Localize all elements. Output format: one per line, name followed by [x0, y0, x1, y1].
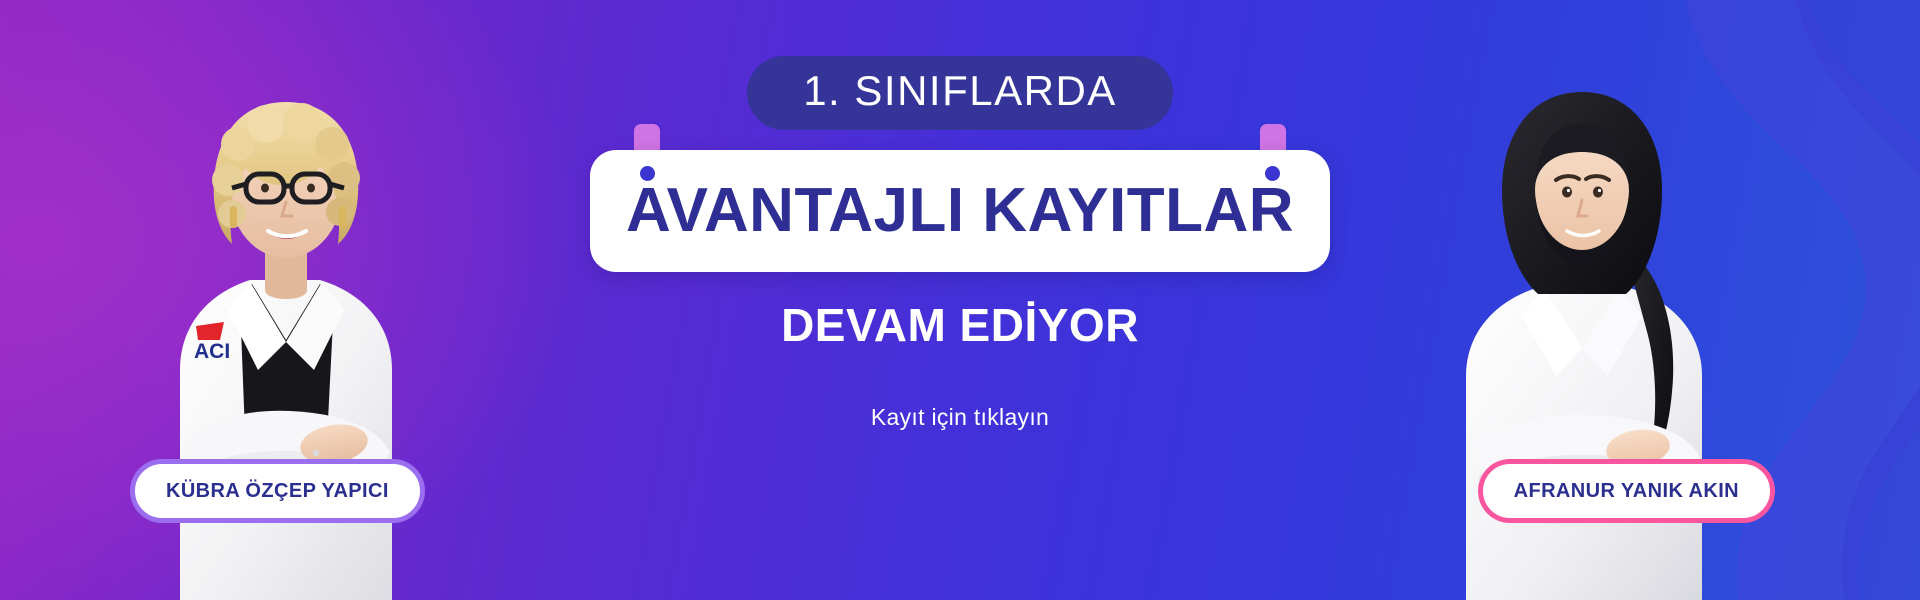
instructor-name-right: AFRANUR YANIK AKIN: [1514, 481, 1739, 501]
instructor-name-badge-left: KÜBRA ÖZÇEP YAPICI: [135, 464, 420, 518]
subheadline-text: DEVAM EDİYOR: [781, 302, 1139, 348]
headline-text: AVANTAJLI KAYITLAR: [626, 180, 1294, 242]
class-level-badge: 1. SINIFLARDA: [747, 56, 1173, 130]
headline-card: AVANTAJLI KAYITLAR: [590, 150, 1330, 272]
promo-banner: ACI: [0, 0, 1920, 600]
svg-text:ACI: ACI: [194, 340, 230, 363]
center-content: 1. SINIFLARDA AVANTAJLI KAYITLAR DEVAM E…: [550, 56, 1370, 429]
instructor-name-left: KÜBRA ÖZÇEP YAPICI: [166, 481, 389, 501]
headline-card-wrapper: AVANTAJLI KAYITLAR: [590, 124, 1330, 272]
card-rivet-right-icon: [1265, 166, 1280, 181]
card-rivet-left-icon: [640, 166, 655, 181]
cta-link[interactable]: Kayıt için tıklayın: [871, 406, 1049, 429]
instructor-name-badge-right: AFRANUR YANIK AKIN: [1483, 464, 1770, 518]
